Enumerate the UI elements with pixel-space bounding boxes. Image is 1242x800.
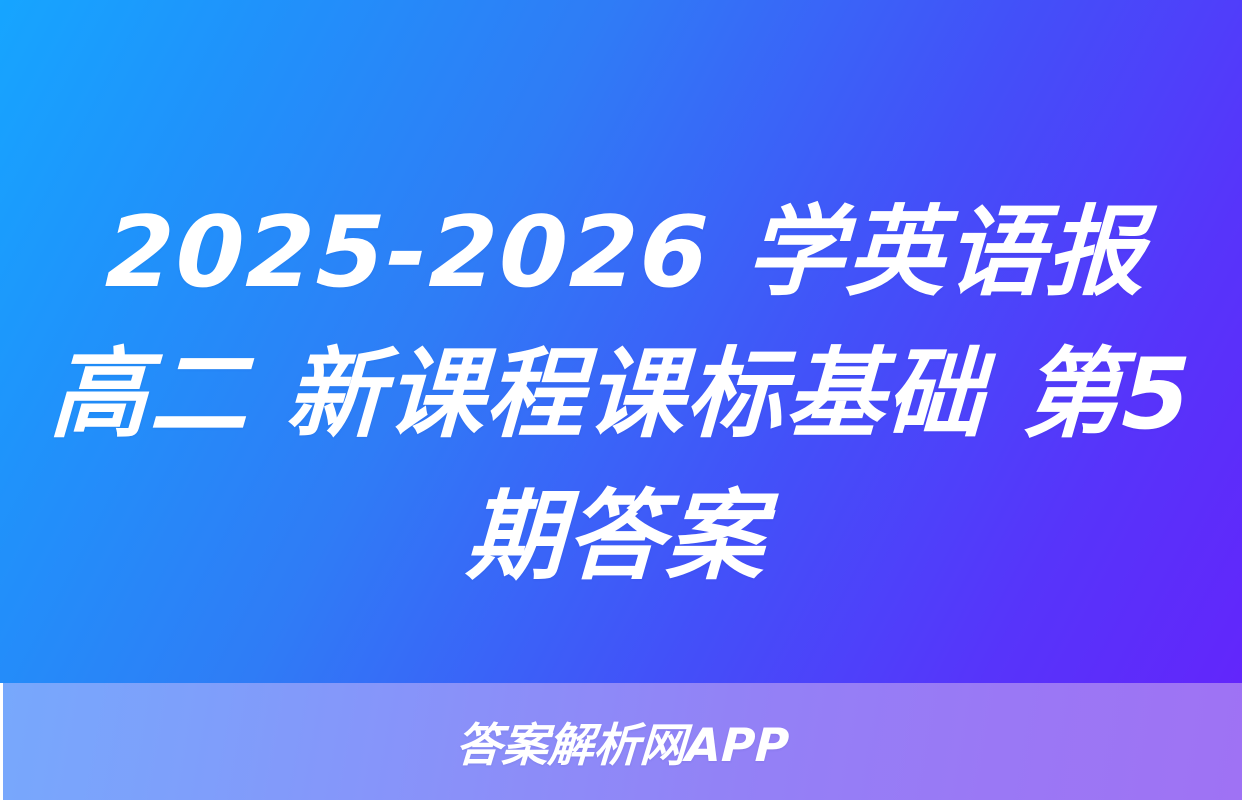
app-banner-label: 答案解析网APP [454,709,790,775]
page-title: 2025-2026 学英语报 高二 新课程课标基础 第5期答案 [0,182,1242,608]
poster-page: 2025-2026 学英语报 高二 新课程课标基础 第5期答案 答案解析网APP [0,0,1242,800]
hero-gradient-panel: 2025-2026 学英语报 高二 新课程课标基础 第5期答案 [0,0,1242,683]
app-promo-banner[interactable]: 答案解析网APP [3,683,1242,800]
